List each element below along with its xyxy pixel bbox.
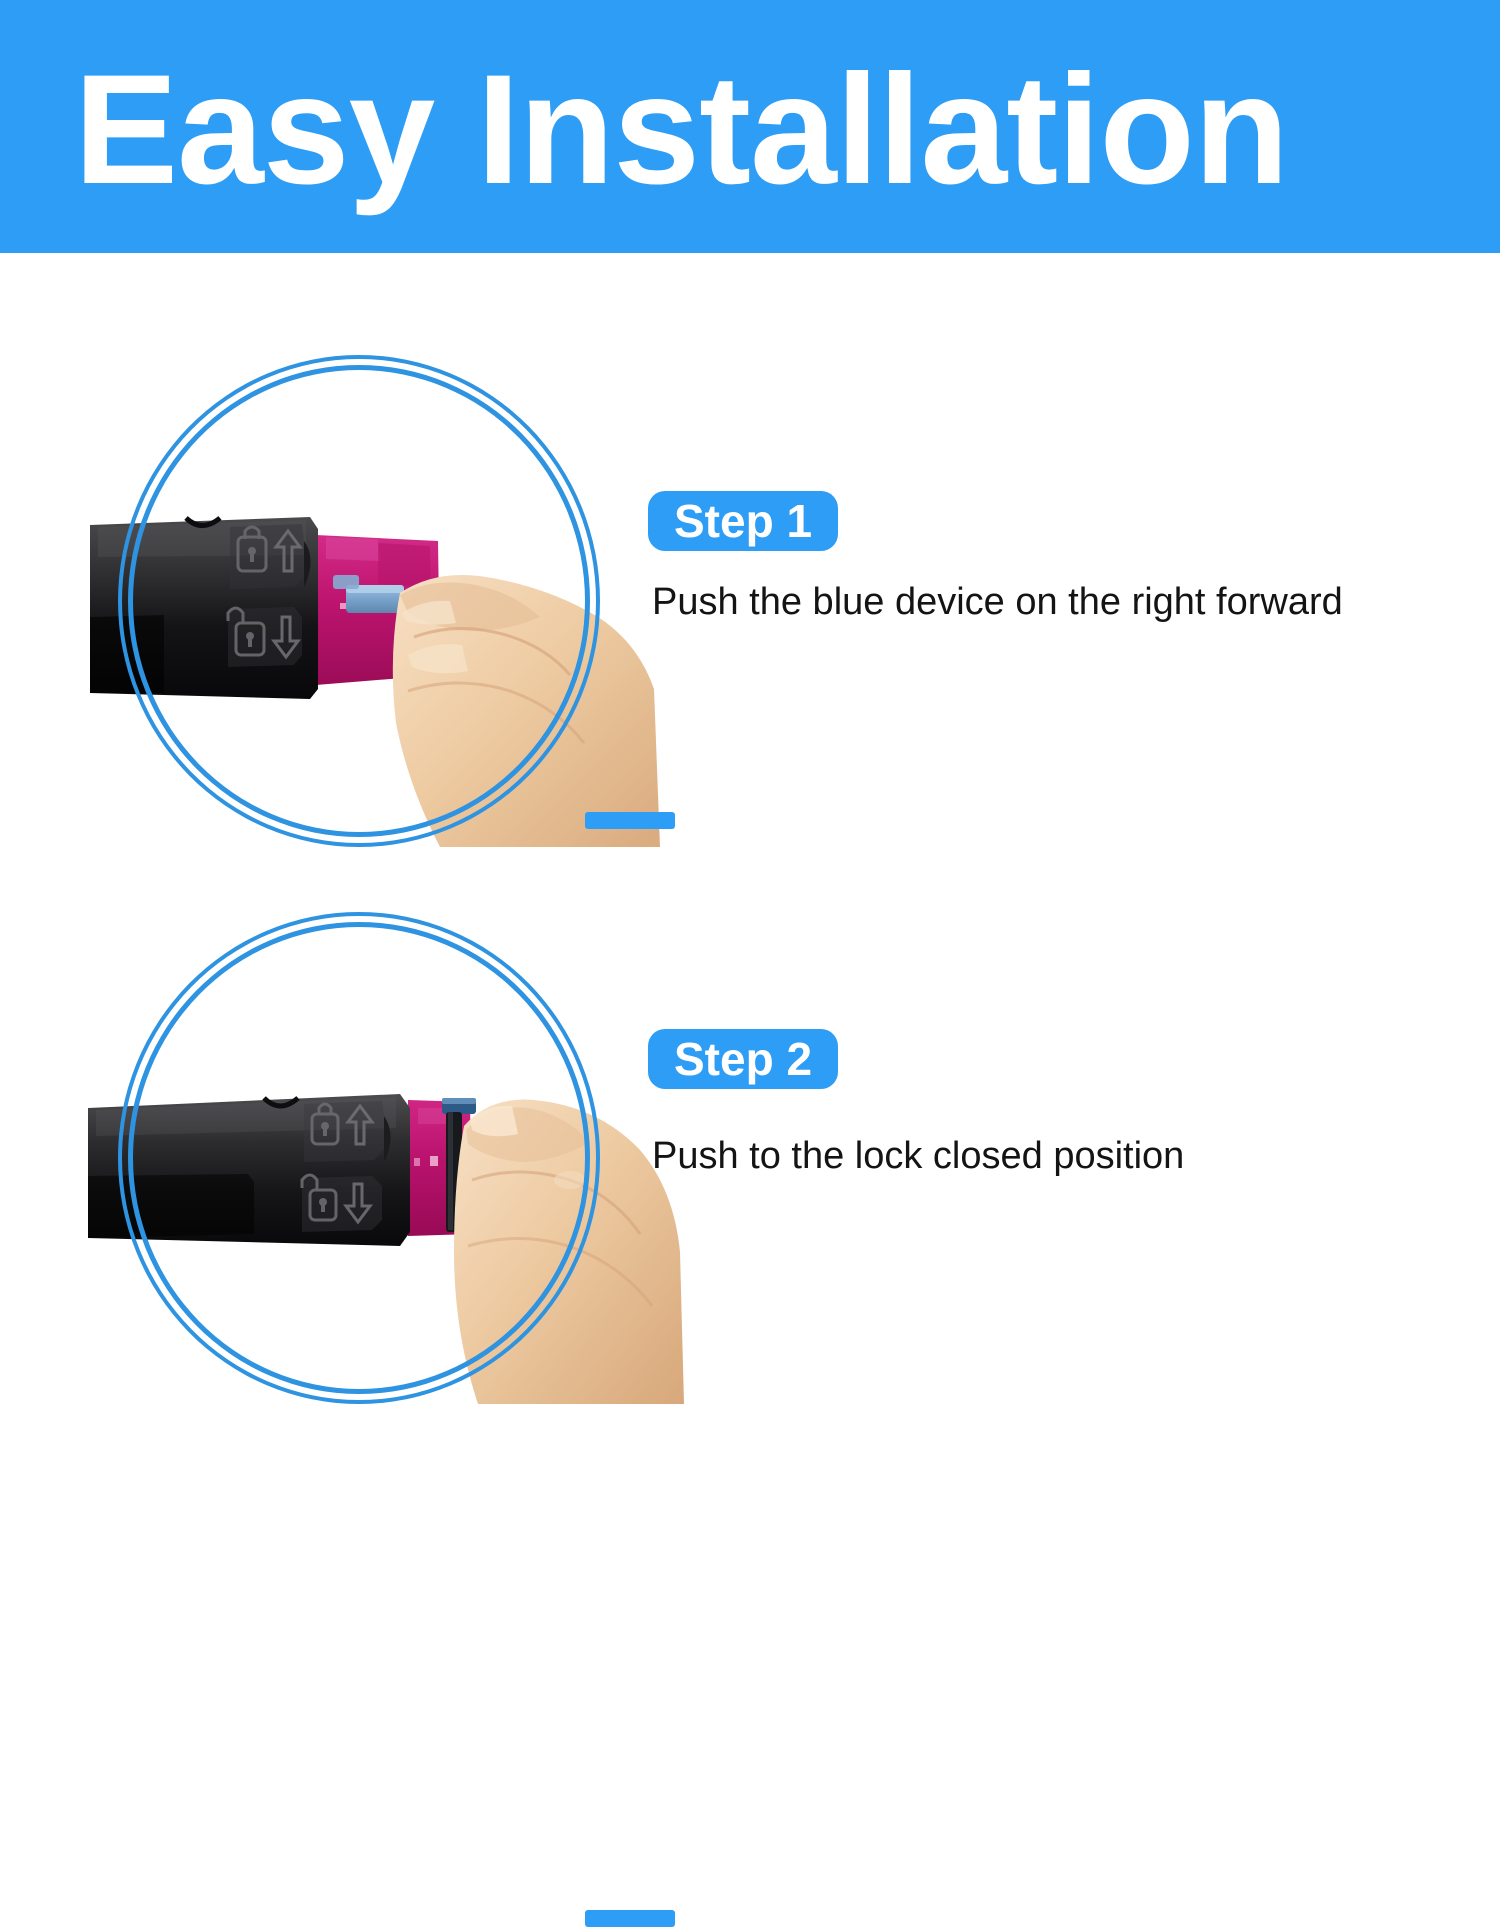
step-1-description: Push the blue device on the right forwar…: [652, 578, 1392, 626]
step-1-circle-frame: [118, 355, 600, 847]
step-2-connector-line: [585, 1910, 675, 1927]
step-1-connector-line: [585, 812, 675, 829]
step-1-badge: Step 1: [648, 491, 838, 551]
step-2-circle-frame: [118, 912, 600, 1404]
step-2-description: Push to the lock closed position: [652, 1132, 1392, 1180]
page-title: Easy Installation: [74, 52, 1288, 208]
page-header-banner: Easy Installation: [0, 0, 1500, 253]
step-2-badge: Step 2: [648, 1029, 838, 1089]
